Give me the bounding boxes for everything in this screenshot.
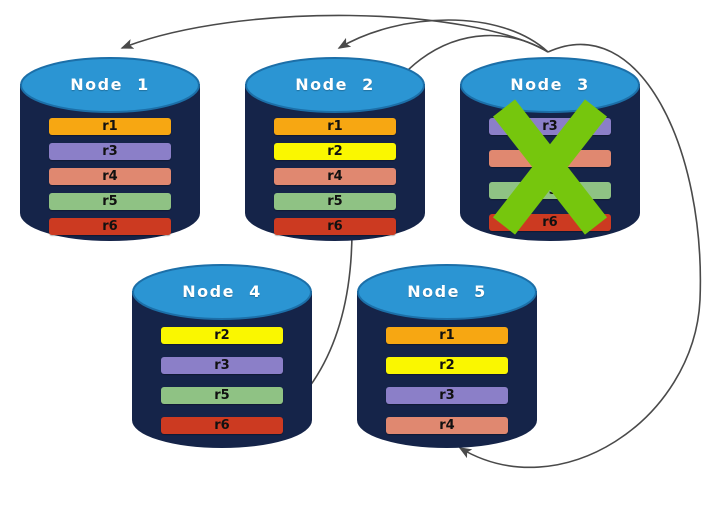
replica-row[interactable]: r3	[489, 118, 611, 135]
replica-row[interactable]: r5	[49, 193, 171, 210]
replica-row[interactable]: r6	[274, 218, 396, 235]
replica-row[interactable]: r4	[274, 168, 396, 185]
replica-row[interactable]: r2	[161, 327, 283, 344]
node-title: Node 3	[460, 75, 640, 94]
replica-row[interactable]: r6	[489, 214, 611, 231]
replica-row[interactable]: r3	[386, 387, 508, 404]
node-3[interactable]: Node 3r3r4r5r6	[460, 58, 640, 240]
node-title: Node 1	[20, 75, 200, 94]
node-title: Node 2	[245, 75, 425, 94]
node-5[interactable]: Node 5r1r2r3r4	[357, 265, 537, 447]
diagram-canvas: Node 1r1r3r4r5r6Node 2r1r2r4r5r6Node 3r3…	[0, 0, 708, 508]
replica-row-list: r1r2r4r5r6	[245, 118, 425, 243]
replica-row-list: r3r4r5r6	[460, 118, 640, 246]
replica-row[interactable]: r5	[274, 193, 396, 210]
replica-row[interactable]: r2	[386, 357, 508, 374]
arrow-node3-to-node1	[122, 15, 548, 52]
replica-row-list: r1r3r4r5r6	[20, 118, 200, 243]
replica-row[interactable]: r1	[274, 118, 396, 135]
node-4[interactable]: Node 4r2r3r5r6	[132, 265, 312, 447]
replica-row[interactable]: r1	[49, 118, 171, 135]
replica-row[interactable]: r6	[161, 417, 283, 434]
replica-row[interactable]: r5	[489, 182, 611, 199]
replica-row[interactable]: r3	[49, 143, 171, 160]
replica-row[interactable]: r1	[386, 327, 508, 344]
replica-row-list: r2r3r5r6	[132, 327, 312, 447]
replica-row[interactable]: r2	[274, 143, 396, 160]
replica-row[interactable]: r4	[49, 168, 171, 185]
replica-row[interactable]: r5	[161, 387, 283, 404]
replica-row[interactable]: r6	[49, 218, 171, 235]
node-2[interactable]: Node 2r1r2r4r5r6	[245, 58, 425, 240]
replica-row[interactable]: r4	[386, 417, 508, 434]
node-1[interactable]: Node 1r1r3r4r5r6	[20, 58, 200, 240]
replica-row-list: r1r2r3r4	[357, 327, 537, 447]
node-title: Node 4	[132, 282, 312, 301]
replica-row[interactable]: r3	[161, 357, 283, 374]
replica-row[interactable]: r4	[489, 150, 611, 167]
node-title: Node 5	[357, 282, 537, 301]
arrow-node3-to-node2	[339, 20, 548, 52]
